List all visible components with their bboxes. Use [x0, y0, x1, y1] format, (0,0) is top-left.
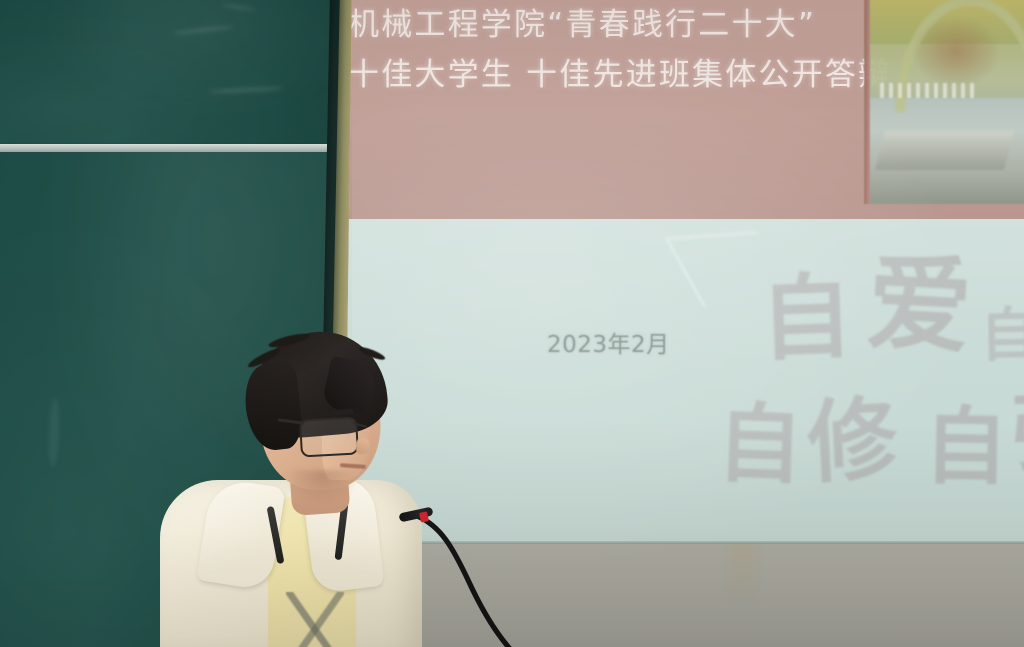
watermark-char-ai: 爱: [864, 217, 976, 373]
watermark-char-zi-2: 自: [979, 288, 1024, 373]
slide-title-line-2: 十佳大学生 十佳先进班集体公开答辩: [348, 50, 854, 100]
microphone-gooseneck-stem: [395, 500, 525, 647]
photo-arch-reflection: [915, 18, 997, 86]
watermark-char-zi-1: 自: [758, 242, 855, 378]
slide-title-line-1: 机械工程学院“青春践行二十大”: [348, 0, 854, 50]
gooseneck-microphone: [395, 500, 525, 647]
eyeglasses-icon: [299, 417, 359, 458]
presenter-hair-side: [242, 361, 305, 452]
chalk-smudge: [208, 86, 284, 94]
photo-left-edge: [864, 0, 870, 204]
chalk-smudge: [48, 397, 60, 467]
slide-campus-photo: [864, 0, 1024, 204]
presenter-shirt-print: [286, 592, 344, 647]
slide-title: 机械工程学院“青春践行二十大” 十佳大学生 十佳先进班集体公开答辩: [348, 0, 854, 100]
presentation-photo-scene: 自 爱 自 自 修 自 强 机械工程学院“青春践行二十大” 十佳大学生 十佳先进…: [0, 0, 1024, 647]
photo-boat: [875, 131, 1014, 170]
chalkboard-upper-panel: [0, 0, 342, 146]
presenter-nose: [356, 438, 370, 454]
chalk-smudge: [174, 25, 234, 35]
presenter-jaw-shadow: [286, 470, 358, 504]
watermark-char-zi-3: 自: [715, 373, 805, 501]
chalk-smudge: [222, 4, 256, 12]
photo-railing: [880, 83, 978, 98]
slide-date: 2023年2月: [547, 325, 670, 359]
watermark-char-zi-4: 自: [923, 379, 1009, 501]
watermark-char-xiu: 修: [804, 366, 901, 501]
